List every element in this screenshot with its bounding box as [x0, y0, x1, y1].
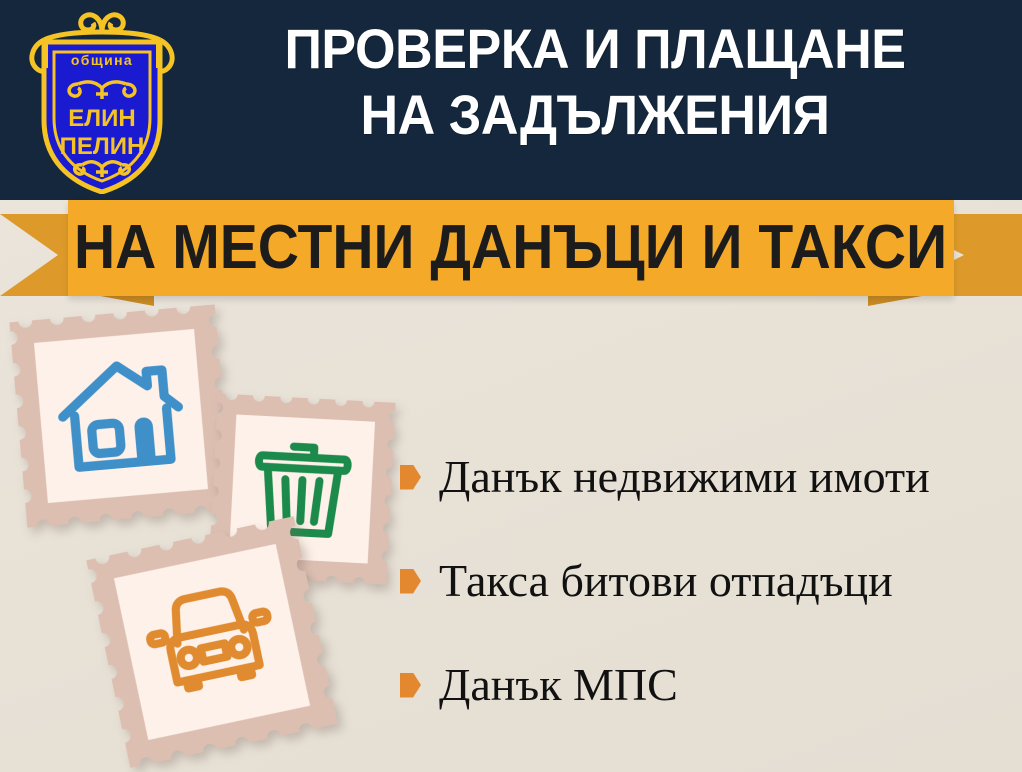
ribbon-main-panel: НА МЕСТНИ ДАНЪЦИ И ТАКСИ	[68, 200, 954, 296]
poster-canvas: ПРОВЕРКА И ПЛАЩАНЕ НА ЗАДЪЛЖЕНИЯ	[0, 0, 1022, 772]
page-title-line-1: ПРОВЕРКА И ПЛАЩАНЕ	[209, 16, 981, 82]
stamp-card-car	[86, 516, 337, 767]
list-item[interactable]: Такса битови отпадъци	[400, 529, 1012, 633]
car-front-icon	[132, 562, 293, 723]
arrow-bullet-icon	[400, 465, 421, 490]
ribbon-label: НА МЕСТНИ ДАНЪЦИ И ТАКСИ	[74, 217, 947, 279]
house-icon	[50, 345, 193, 488]
coat-of-arms-icon: община ЕЛИН ПЕЛИН	[16, 2, 188, 194]
crest-line-2: ПЕЛИН	[60, 133, 145, 160]
list-item-label: Данък МПС	[439, 661, 678, 709]
list-item-label: Такса битови отпадъци	[439, 557, 893, 605]
ribbon-banner: НА МЕСТНИ ДАНЪЦИ И ТАКСИ	[0, 196, 1022, 312]
arrow-bullet-icon	[400, 673, 421, 698]
list-item[interactable]: Данък МПС	[400, 633, 1012, 737]
arrow-bullet-icon	[400, 569, 421, 594]
list-item[interactable]: Данък недвижими имоти	[400, 425, 1012, 529]
crest-line-1: ЕЛИН	[68, 105, 135, 132]
list-item-label: Данък недвижими имоти	[439, 453, 930, 501]
page-title-line-2: НА ЗАДЪЛЖЕНИЯ	[209, 82, 981, 148]
page-title: ПРОВЕРКА И ПЛАЩАНЕ НА ЗАДЪЛЖЕНИЯ	[209, 16, 981, 148]
stamp-card-house	[9, 304, 232, 527]
tax-type-list: Данък недвижими имоти Такса битови отпад…	[400, 425, 1012, 737]
crest-subtitle: община	[71, 52, 133, 68]
